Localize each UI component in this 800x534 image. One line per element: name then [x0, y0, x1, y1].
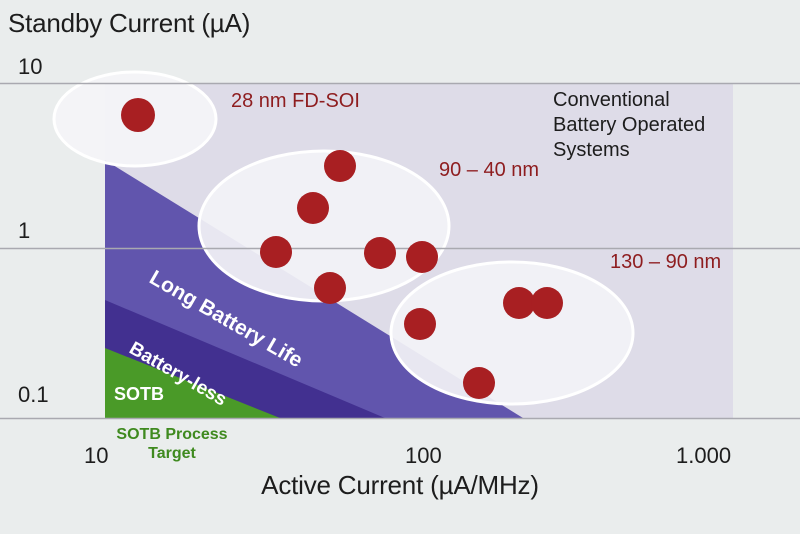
x-tick-10: 10	[84, 443, 108, 469]
series-label-130-90nm: 130 – 90 nm	[610, 251, 721, 274]
series-label-90-40nm: 90 – 40 nm	[439, 159, 539, 182]
data-point	[260, 236, 292, 268]
data-point	[324, 150, 356, 182]
data-point	[297, 192, 329, 224]
data-point	[121, 98, 155, 132]
data-point	[404, 308, 436, 340]
y-tick-1: 1	[18, 218, 30, 244]
data-point	[406, 241, 438, 273]
y-axis-title: Standby Current (µA)	[8, 8, 250, 39]
x-axis-title: Active Current (µA/MHz)	[0, 470, 800, 501]
x-tick-1000: 1.000	[676, 443, 731, 469]
x-tick-100: 100	[405, 443, 442, 469]
y-tick-0.1: 0.1	[18, 382, 49, 408]
series-label-28nm-fdsoi: 28 nm FD-SOI	[231, 90, 360, 113]
chart-canvas: Standby Current (µA) Active Current (µA/…	[0, 0, 800, 534]
data-point	[364, 237, 396, 269]
band-label-sotb: SOTB	[114, 384, 164, 405]
data-point	[314, 272, 346, 304]
y-tick-10: 10	[18, 54, 42, 80]
data-point	[531, 287, 563, 319]
data-point	[503, 287, 535, 319]
data-point	[463, 367, 495, 399]
region-label-conventional-systems: Conventional Battery Operated Systems	[553, 88, 705, 163]
annotation-sotb-process-target: SOTB Process Target	[107, 425, 237, 463]
